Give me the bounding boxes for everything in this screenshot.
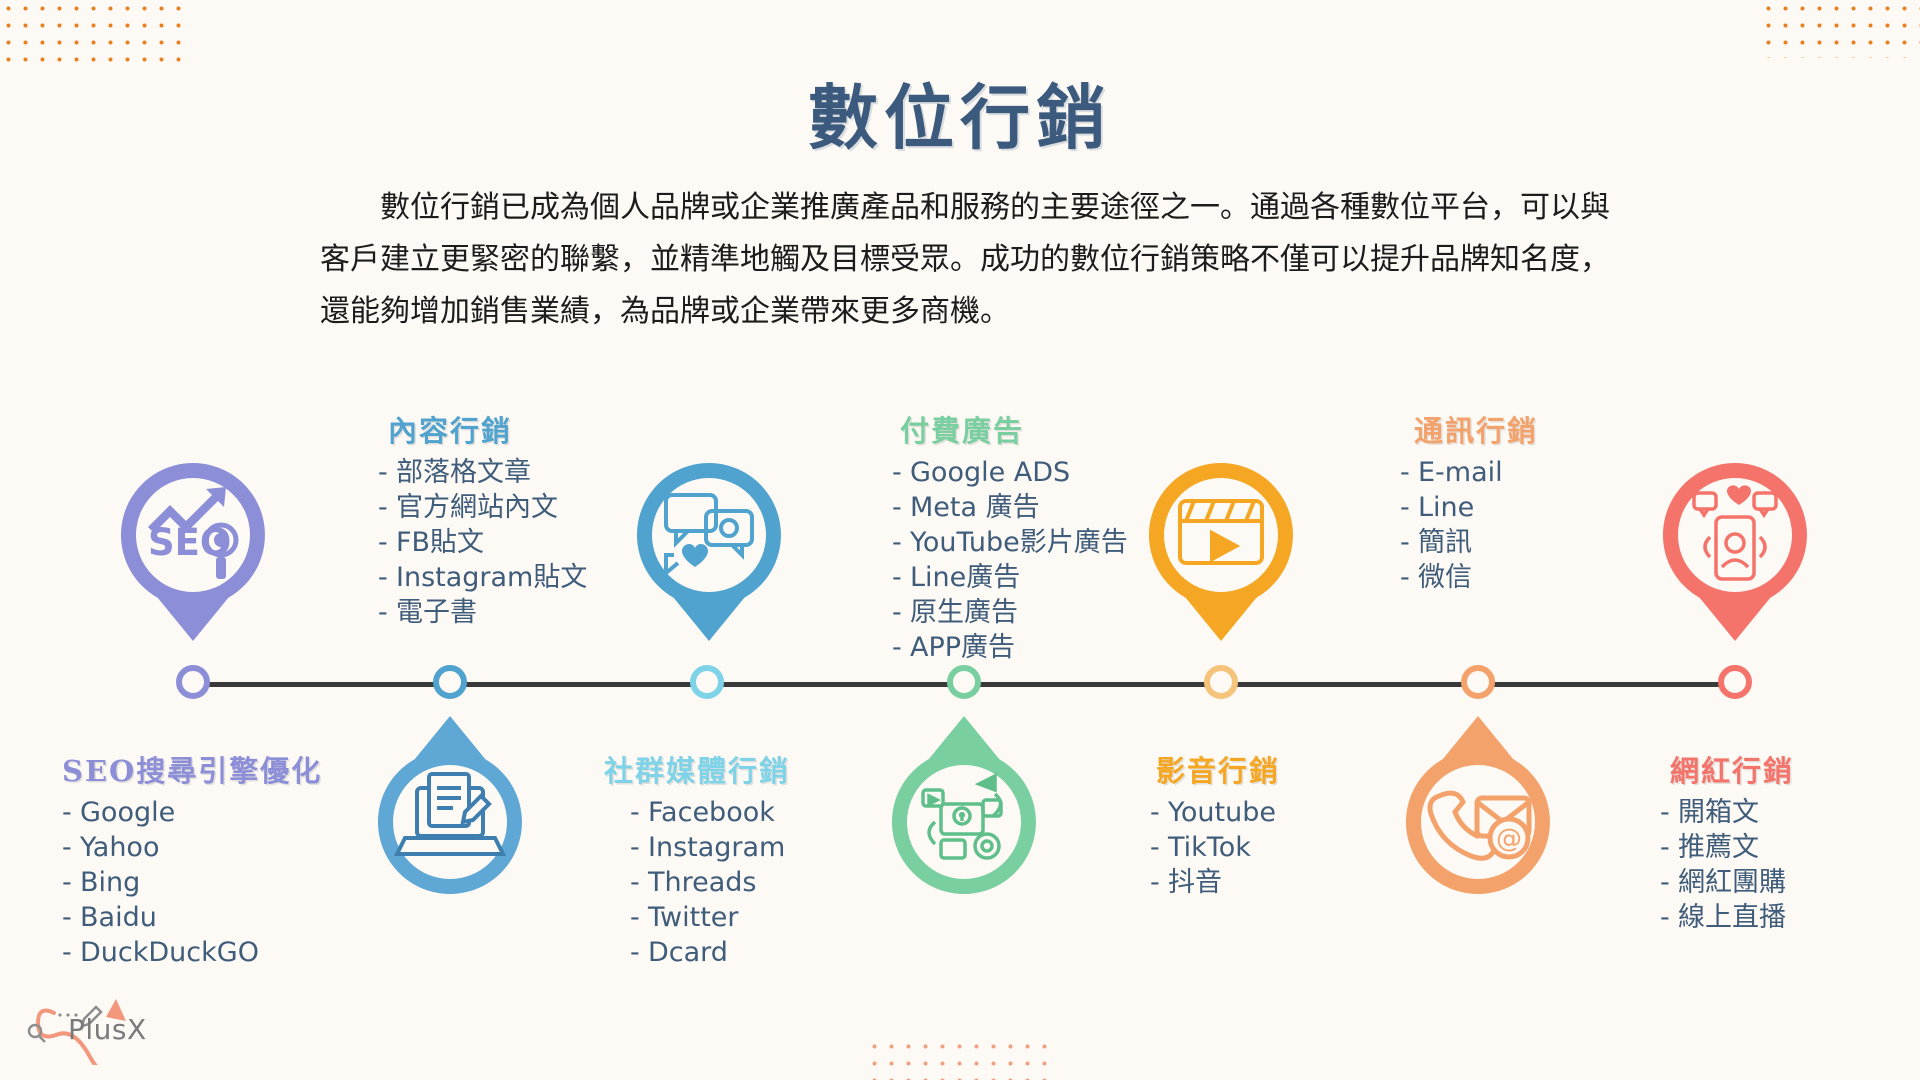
dot-pattern-top-left-icon xyxy=(0,0,186,62)
timeline-node-influencer[interactable] xyxy=(1718,665,1752,699)
marker-messaging[interactable]: @ xyxy=(1393,712,1563,902)
list-item: -Dcard xyxy=(630,935,790,970)
timeline-node-paid-ads[interactable] xyxy=(947,665,981,699)
list-item: -Meta 廣告 xyxy=(892,490,1128,525)
svg-text:@: @ xyxy=(1496,824,1522,854)
logo-text: PlusX xyxy=(68,1013,147,1046)
dot-pattern-top-right-icon xyxy=(1760,0,1920,58)
list-item: -Google ADS xyxy=(892,455,1128,490)
list-item: -網紅團購 xyxy=(1660,865,1794,900)
marker-paid-ads[interactable] xyxy=(879,712,1049,902)
list-item: -抖音 xyxy=(1150,865,1280,900)
section-heading-video: 影音行銷 xyxy=(1142,748,1280,790)
brand-logo[interactable]: PlusX xyxy=(18,995,158,1065)
list-item: -Youtube xyxy=(1150,795,1280,830)
list-item: -Baidu xyxy=(62,900,322,935)
list-item: -Instagram貼文 xyxy=(378,560,587,595)
section-heading-paid-ads: 付費廣告 xyxy=(892,408,1128,450)
page-title: 數位行銷 xyxy=(0,62,1920,163)
list-item: -E-mail xyxy=(1400,455,1538,490)
section-content: 內容行銷 -部落格文章 -官方網站內文 -FB貼文 -Instagram貼文 -… xyxy=(378,408,587,630)
section-list-messaging: -E-mail -Line -簡訊 -微信 xyxy=(1400,455,1538,595)
section-heading-messaging: 通訊行銷 xyxy=(1400,408,1538,450)
list-item: -FB貼文 xyxy=(378,525,587,560)
marker-seo[interactable]: SEO xyxy=(108,455,278,645)
section-seo: SEO搜尋引擎優化 -Google -Yahoo -Bing -Baidu -D… xyxy=(62,748,322,970)
section-heading-seo: SEO搜尋引擎優化 xyxy=(62,748,322,790)
section-social: 社群媒體行銷 -Facebook -Instagram -Threads -Tw… xyxy=(604,748,790,970)
section-paid-ads: 付費廣告 -Google ADS -Meta 廣告 -YouTube影片廣告 -… xyxy=(892,408,1128,665)
section-heading-social: 社群媒體行銷 xyxy=(604,748,790,790)
list-item: -微信 xyxy=(1400,560,1538,595)
list-item: -簡訊 xyxy=(1400,525,1538,560)
list-item: -YouTube影片廣告 xyxy=(892,525,1128,560)
timeline-node-content[interactable] xyxy=(433,665,467,699)
list-item: -原生廣告 xyxy=(892,595,1128,630)
list-item: -Instagram xyxy=(630,830,790,865)
timeline-node-video[interactable] xyxy=(1204,665,1238,699)
list-item: -APP廣告 xyxy=(892,630,1128,665)
list-item: -Line xyxy=(1400,490,1538,525)
list-item: -開箱文 xyxy=(1660,795,1794,830)
section-list-social: -Facebook -Instagram -Threads -Twitter -… xyxy=(604,795,790,970)
list-item: -線上直播 xyxy=(1660,900,1794,935)
list-item: -Bing xyxy=(62,865,322,900)
list-item: -部落格文章 xyxy=(378,455,587,490)
list-item: -推薦文 xyxy=(1660,830,1794,865)
timeline-node-seo[interactable] xyxy=(176,665,210,699)
intro-paragraph: 數位行銷已成為個人品牌或企業推廣產品和服務的主要途徑之一。通過各種數位平台，可以… xyxy=(320,182,1610,338)
section-influencer: 網紅行銷 -開箱文 -推薦文 -網紅團購 -線上直播 xyxy=(1650,748,1794,935)
timeline-node-social[interactable] xyxy=(690,665,724,699)
marker-influencer[interactable] xyxy=(1650,455,1820,645)
section-list-seo: -Google -Yahoo -Bing -Baidu -DuckDuckGO xyxy=(62,795,322,970)
list-item: -Twitter xyxy=(630,900,790,935)
list-item: -TikTok xyxy=(1150,830,1280,865)
marker-social[interactable] xyxy=(365,712,535,902)
section-messaging: 通訊行銷 -E-mail -Line -簡訊 -微信 xyxy=(1400,408,1538,595)
marker-video[interactable] xyxy=(1136,455,1306,645)
section-video: 影音行銷 -Youtube -TikTok -抖音 xyxy=(1142,748,1280,900)
section-list-paid-ads: -Google ADS -Meta 廣告 -YouTube影片廣告 -Line廣… xyxy=(892,455,1128,665)
infographic-canvas: 數位行銷 數位行銷已成為個人品牌或企業推廣產品和服務的主要途徑之一。通過各種數位… xyxy=(0,0,1920,1080)
marker-content[interactable] xyxy=(624,455,794,645)
list-item: -電子書 xyxy=(378,595,587,630)
section-list-video: -Youtube -TikTok -抖音 xyxy=(1142,795,1280,900)
list-item: -DuckDuckGO xyxy=(62,935,322,970)
section-list-influencer: -開箱文 -推薦文 -網紅團購 -線上直播 xyxy=(1650,795,1794,935)
timeline-node-messaging[interactable] xyxy=(1461,665,1495,699)
list-item: -Yahoo xyxy=(62,830,322,865)
list-item: -Facebook xyxy=(630,795,790,830)
section-heading-content: 內容行銷 xyxy=(378,408,587,450)
list-item: -Line廣告 xyxy=(892,560,1128,595)
list-item: -Google xyxy=(62,795,322,830)
section-list-content: -部落格文章 -官方網站內文 -FB貼文 -Instagram貼文 -電子書 xyxy=(378,455,587,630)
section-heading-influencer: 網紅行銷 xyxy=(1650,748,1794,790)
list-item: -Threads xyxy=(630,865,790,900)
dot-pattern-bottom-center-icon xyxy=(866,1038,1056,1080)
list-item: -官方網站內文 xyxy=(378,490,587,525)
